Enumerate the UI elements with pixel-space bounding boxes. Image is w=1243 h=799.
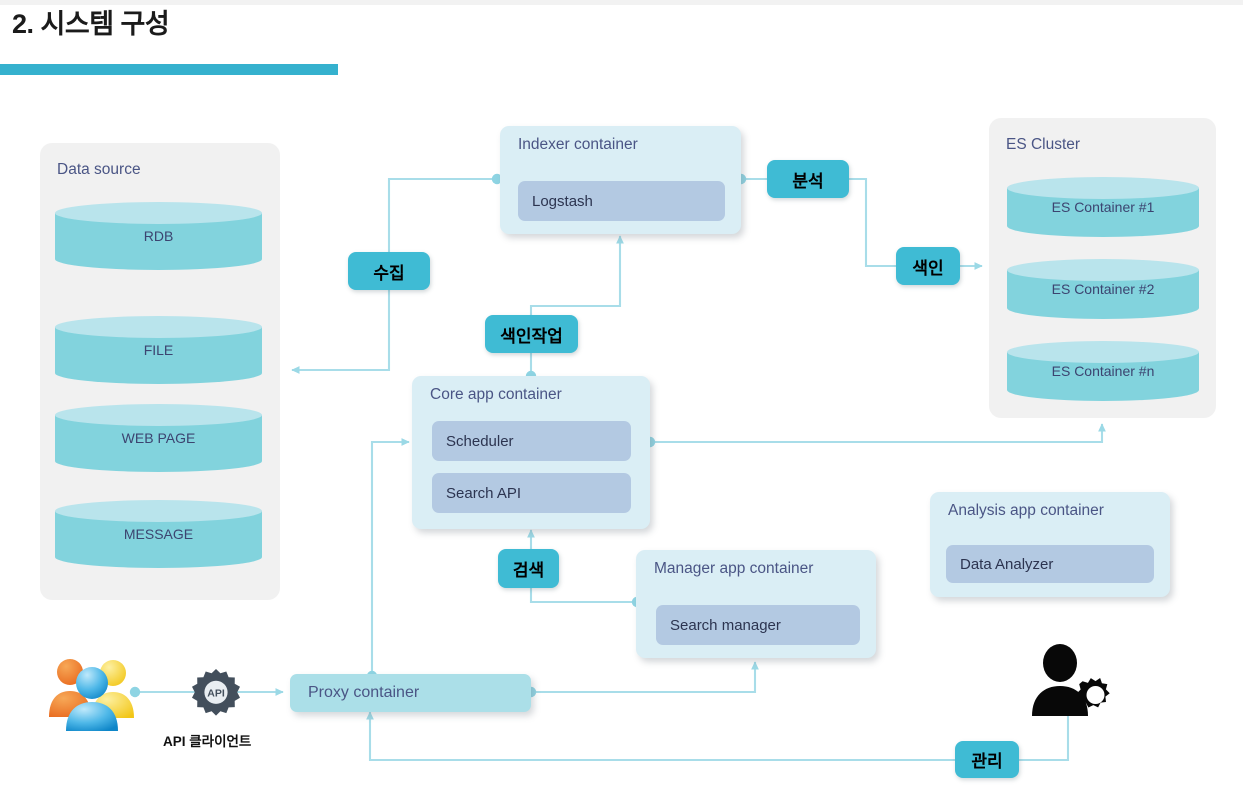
wire-index-job bbox=[531, 236, 620, 376]
component-search-manager[interactable]: Search manager bbox=[656, 605, 860, 645]
step-label-manage: 관리 bbox=[955, 741, 1019, 778]
cylinder-file: FILE bbox=[55, 316, 262, 384]
container-proxy-title: Proxy container bbox=[308, 684, 419, 702]
component-logstash-label: Logstash bbox=[518, 193, 593, 210]
step-label-index-job: 색인작업 bbox=[485, 315, 578, 353]
wire-proxy-to-manager bbox=[531, 662, 755, 692]
cylinder-label: ES Container #1 bbox=[1007, 177, 1199, 237]
container-indexer-title: Indexer container bbox=[518, 136, 638, 154]
cylinder-web-page: WEB PAGE bbox=[55, 404, 262, 472]
panel-es-cluster-title: ES Cluster bbox=[1006, 136, 1080, 154]
cylinder-label: FILE bbox=[55, 316, 262, 384]
panel-data-source-title: Data source bbox=[57, 161, 141, 179]
step-label-index: 색인 bbox=[896, 247, 960, 285]
container-proxy[interactable]: Proxy container bbox=[290, 674, 531, 712]
container-core-app-title: Core app container bbox=[430, 386, 562, 404]
component-search-api[interactable]: Search API bbox=[432, 473, 631, 513]
cylinder-message: MESSAGE bbox=[55, 500, 262, 568]
cylinder-es-container-2: ES Container #2 bbox=[1007, 259, 1199, 319]
container-analysis-app[interactable]: Analysis app container Data Analyzer bbox=[930, 492, 1170, 597]
container-manager-app-title: Manager app container bbox=[654, 560, 813, 578]
cylinder-label: ES Container #n bbox=[1007, 341, 1199, 401]
cylinder-rdb: RDB bbox=[55, 202, 262, 270]
component-logstash[interactable]: Logstash bbox=[518, 181, 725, 221]
component-scheduler-label: Scheduler bbox=[432, 433, 514, 450]
component-data-analyzer[interactable]: Data Analyzer bbox=[946, 545, 1154, 583]
component-search-manager-label: Search manager bbox=[656, 617, 781, 634]
api-client-caption: API 클라이언트 bbox=[163, 730, 251, 750]
container-analysis-app-title: Analysis app container bbox=[948, 502, 1104, 520]
container-manager-app[interactable]: Manager app container Search manager bbox=[636, 550, 876, 658]
cylinder-es-container-1: ES Container #1 bbox=[1007, 177, 1199, 237]
diagram-canvas: 2. 시스템 구성 bbox=[0, 0, 1243, 799]
step-label-analyze: 분석 bbox=[767, 160, 849, 198]
step-label-collect: 수집 bbox=[348, 252, 430, 290]
wire-scheduler-to-es bbox=[650, 424, 1102, 442]
step-label-search: 검색 bbox=[498, 549, 559, 588]
component-scheduler[interactable]: Scheduler bbox=[432, 421, 631, 461]
cylinder-label: WEB PAGE bbox=[55, 404, 262, 472]
admin-user-icon bbox=[1030, 644, 1110, 720]
cylinder-label: MESSAGE bbox=[55, 500, 262, 568]
component-search-api-label: Search API bbox=[432, 485, 521, 502]
container-indexer[interactable]: Indexer container Logstash bbox=[500, 126, 741, 234]
cylinder-label: ES Container #2 bbox=[1007, 259, 1199, 319]
cylinder-label: RDB bbox=[55, 202, 262, 270]
component-data-analyzer-label: Data Analyzer bbox=[946, 556, 1053, 573]
users-icon bbox=[46, 655, 138, 731]
container-core-app[interactable]: Core app container Scheduler Search API bbox=[412, 376, 650, 529]
api-gear-label: API bbox=[207, 688, 225, 700]
api-gear-icon: API bbox=[191, 668, 241, 718]
cylinder-es-container-n: ES Container #n bbox=[1007, 341, 1199, 401]
wire-proxy-to-core bbox=[372, 442, 409, 676]
